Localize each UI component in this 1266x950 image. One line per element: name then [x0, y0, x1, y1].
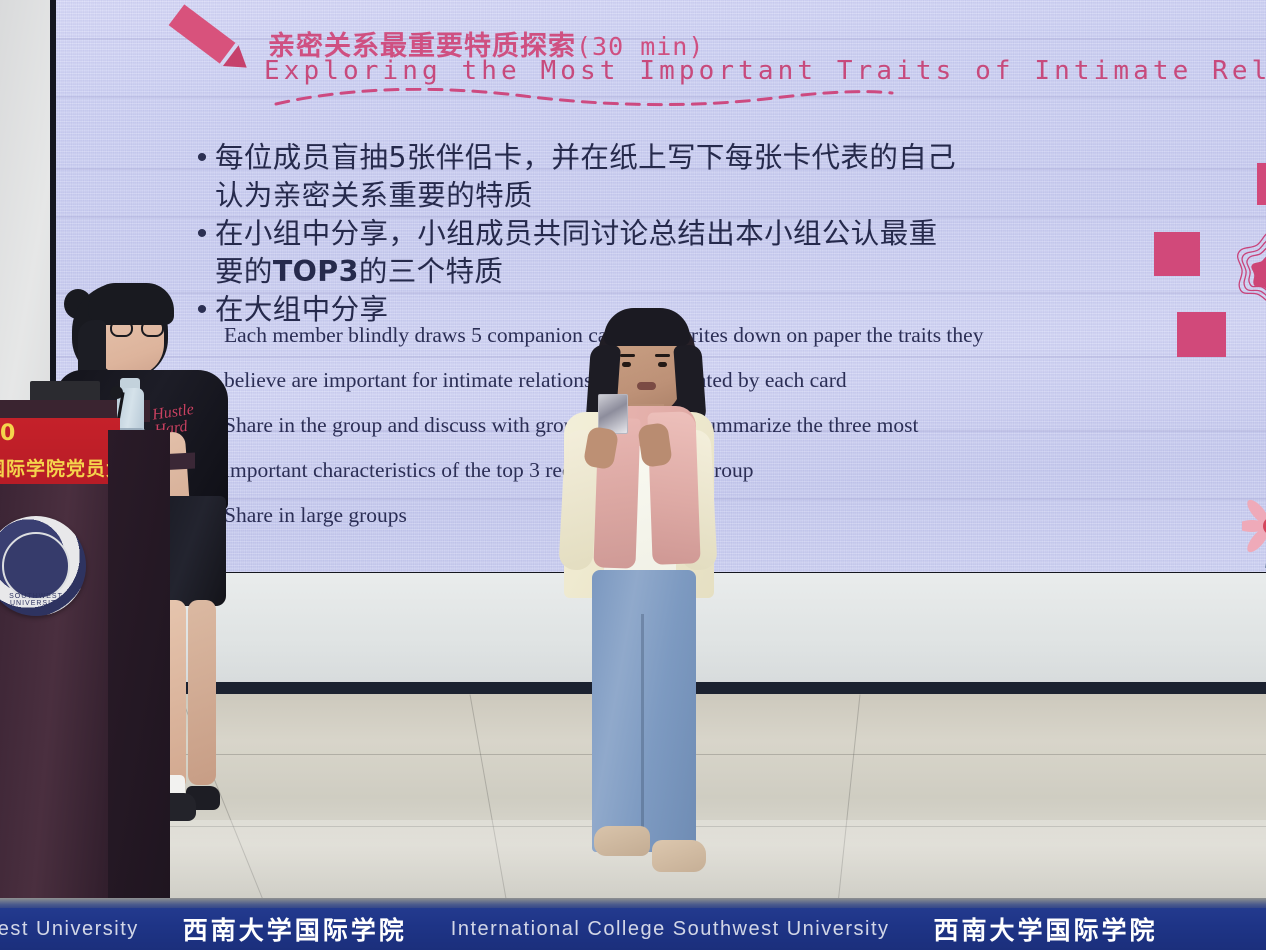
decor-square-3: [1177, 312, 1226, 357]
decor-square-1: [1257, 163, 1266, 205]
presenter-mouth: [637, 382, 656, 390]
top3-highlight: TOP3: [273, 255, 359, 288]
bullet-item: • 每位成员盲抽5张伴侣卡，并在纸上写下每张卡代表的自己 认为亲密关系重要的特质: [189, 139, 1149, 215]
podium-red-banner: 0 国际学院党员大会: [0, 418, 120, 486]
presenter-hair-top: [604, 308, 690, 346]
presenter-hand-right: [637, 422, 673, 468]
presenter-eye-left: [622, 362, 631, 367]
presenter-jeans: [592, 570, 696, 852]
banner-zh-text: 西南大学国际学院: [934, 911, 1158, 947]
flower-decoration: [1242, 418, 1266, 570]
podium-body-side: [108, 430, 170, 904]
presenter-jeans-seam: [641, 614, 644, 852]
banner-en-text: International College Southwest Universi…: [451, 918, 890, 941]
bullet-marker: •: [189, 291, 215, 329]
decor-square-2: [1154, 232, 1200, 276]
flower-burst-icon: [1234, 230, 1266, 308]
bullet-marker: •: [189, 139, 215, 177]
presenter-brow-right: [655, 354, 670, 357]
seal-text: SOUTHWEST UNIVERSITY: [0, 593, 84, 607]
banner-en-text: International College Southwest Universi…: [0, 918, 139, 941]
presenter-shoe-right: [652, 840, 706, 872]
presenter-shoe-left: [594, 826, 650, 856]
venue-banner: International College Southwest Universi…: [0, 908, 1266, 950]
podium-banner-text: 国际学院党员大会: [0, 454, 120, 481]
slide-title-en: Exploring the Most Important Traits of I…: [264, 56, 1266, 86]
glasses-icon: [110, 320, 166, 337]
bullet-item: • 在小组中分享，小组成员共同讨论总结出本小组公认最重 要的TOP3的三个特质: [189, 215, 1149, 291]
presentation-photo: 亲密关系最重要特质探索(30 min) Exploring the Most I…: [0, 0, 1266, 950]
presenter-brow-left: [620, 354, 635, 357]
venue-banner-row: International College Southwest Universi…: [0, 908, 1158, 950]
podium-banner-number: 0: [0, 421, 15, 446]
pencil-icon: [169, 4, 252, 75]
bullet-text: 每位成员盲抽5张伴侣卡，并在纸上写下每张卡代表的自己 认为亲密关系重要的特质: [215, 139, 956, 215]
person-podium-leg-right: [188, 600, 216, 785]
person-podium-fringe: [88, 283, 174, 325]
bullet-text: 在小组中分享，小组成员共同讨论总结出本小组公认最重 要的TOP3的三个特质: [215, 215, 938, 291]
slide-bullets-zh: • 每位成员盲抽5张伴侣卡，并在纸上写下每张卡代表的自己 认为亲密关系重要的特质…: [189, 139, 1149, 329]
title-underline-squiggle: [274, 88, 894, 110]
banner-zh-text: 西南大学国际学院: [183, 911, 407, 947]
presenter-eye-right: [658, 362, 667, 367]
bullet-marker: •: [189, 215, 215, 253]
